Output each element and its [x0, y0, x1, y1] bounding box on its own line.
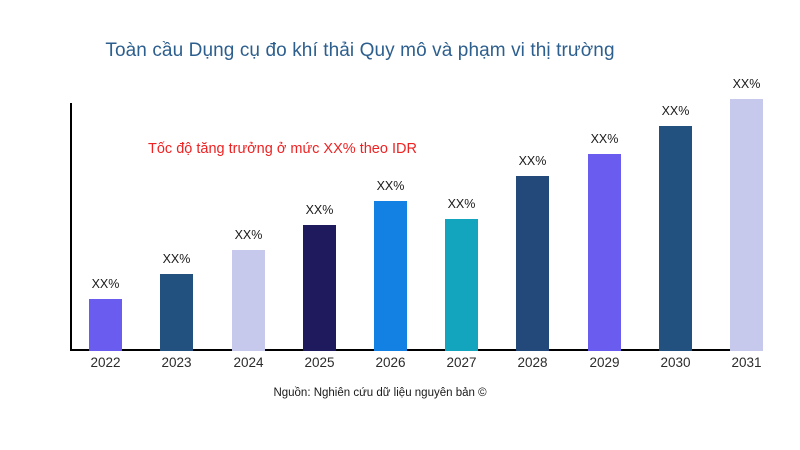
bar-value-2022: XX%: [77, 277, 134, 291]
bar-2025[interactable]: [303, 225, 336, 351]
x-tick-2029: 2029: [574, 355, 635, 370]
bar-value-2029: XX%: [576, 132, 633, 146]
x-tick-2022: 2022: [75, 355, 136, 370]
y-axis-line: [70, 103, 72, 351]
bar-2022[interactable]: [89, 299, 122, 351]
bar-value-2026: XX%: [362, 179, 419, 193]
x-tick-2028: 2028: [502, 355, 563, 370]
chart-figure: Toàn cầu Dụng cụ đo khí thải Quy mô và p…: [0, 0, 800, 450]
bar-value-2027: XX%: [433, 197, 490, 211]
bar-2028[interactable]: [516, 176, 549, 351]
x-tick-2024: 2024: [218, 355, 279, 370]
x-tick-2023: 2023: [146, 355, 207, 370]
x-tick-2031: 2031: [716, 355, 777, 370]
x-tick-2025: 2025: [289, 355, 350, 370]
bar-value-2023: XX%: [148, 252, 205, 266]
bar-value-2030: XX%: [647, 104, 704, 118]
bar-value-2024: XX%: [220, 228, 277, 242]
bar-value-2025: XX%: [291, 203, 348, 217]
bar-2030[interactable]: [659, 126, 692, 351]
x-tick-2030: 2030: [645, 355, 706, 370]
bar-2029[interactable]: [588, 154, 621, 351]
bar-2023[interactable]: [160, 274, 193, 351]
x-tick-2027: 2027: [431, 355, 492, 370]
bar-2026[interactable]: [374, 201, 407, 351]
source-note: Nguồn: Nghiên cứu dữ liệu nguyên bản ©: [0, 387, 760, 399]
bar-value-2028: XX%: [504, 154, 561, 168]
bar-2027[interactable]: [445, 219, 478, 351]
bar-2031[interactable]: [730, 99, 763, 351]
growth-rate-annotation: Tốc độ tăng trưởng ở mức XX% theo IDR: [148, 141, 417, 157]
x-tick-2026: 2026: [360, 355, 421, 370]
bar-value-2031: XX%: [718, 77, 775, 91]
plot-area: Tốc độ tăng trưởng ở mức XX% theo IDR XX…: [0, 0, 800, 450]
bar-2024[interactable]: [232, 250, 265, 351]
